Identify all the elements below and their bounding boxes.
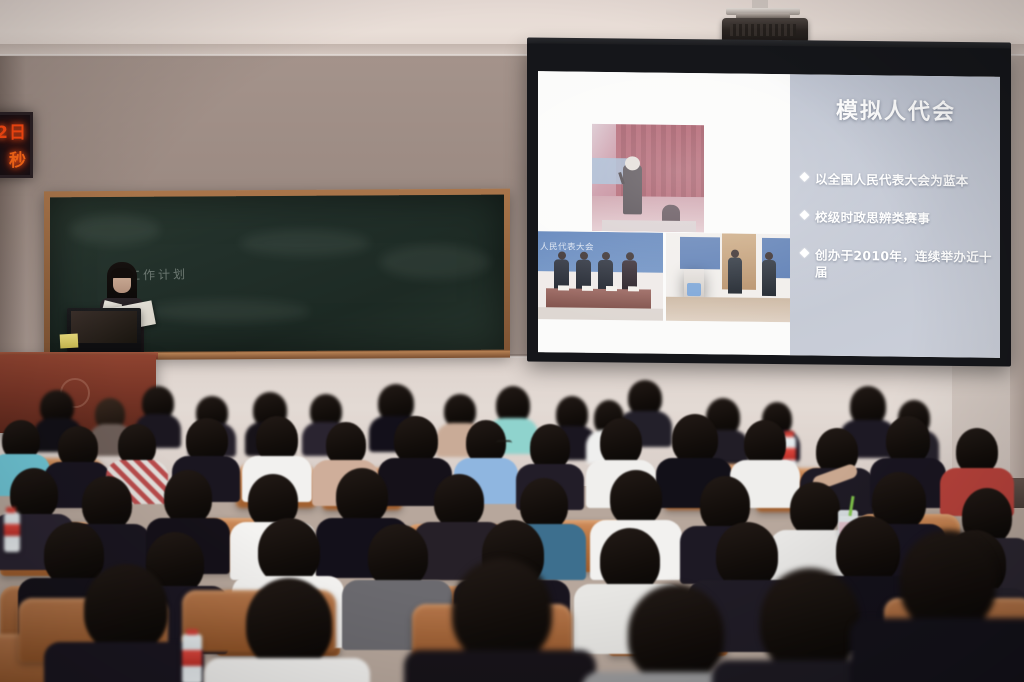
slide-bullet-1-text: 以全国人民代表大会为蓝本 <box>815 172 969 189</box>
eyeglasses <box>496 440 512 447</box>
water-bottle <box>4 512 20 552</box>
led-line-1: 2日 <box>0 117 30 143</box>
led-display: 2日 秒 <box>0 112 33 178</box>
slide-bullet-3-text: 创办于2010年，连续举办近十届 <box>815 247 992 280</box>
diamond-bullet-icon <box>800 210 810 220</box>
slide-bullet-3: 创办于2010年，连续举办近十届 <box>800 246 996 284</box>
lecture-hall-scene: 2日 秒 人民代表大会 <box>0 0 1024 682</box>
audience <box>0 372 1024 682</box>
diamond-bullet-icon <box>800 172 810 182</box>
water-bottle <box>182 634 202 682</box>
slide-title: 模拟人代会 <box>796 92 996 126</box>
left-wall-shadow <box>0 56 26 356</box>
led-line-2: 秒 <box>0 145 30 171</box>
slide-bullet-1: 以全国人民代表大会为蓝本 <box>800 170 996 190</box>
presentation-slide: 人民代表大会 模拟人代会 <box>538 71 1000 358</box>
photo-panel-at-table: 人民代表大会 <box>538 231 663 321</box>
photo-debate-podium <box>666 233 790 323</box>
diamond-bullet-icon <box>800 247 810 257</box>
photo-speaker-on-stage <box>592 124 704 232</box>
slide-bullet-2-text: 校级时政思辨类赛事 <box>815 209 930 225</box>
laptop-screen <box>71 311 137 343</box>
slide-photo-panel: 人民代表大会 <box>538 71 790 355</box>
slide-bullet-list: 以全国人民代表大会为蓝本 校级时政思辨类赛事 创办于2010年，连续举办近十届 <box>800 170 996 303</box>
slide-bullet-2: 校级时政思辨类赛事 <box>800 208 996 228</box>
sticky-note <box>60 334 79 349</box>
projector-vent <box>730 24 796 36</box>
